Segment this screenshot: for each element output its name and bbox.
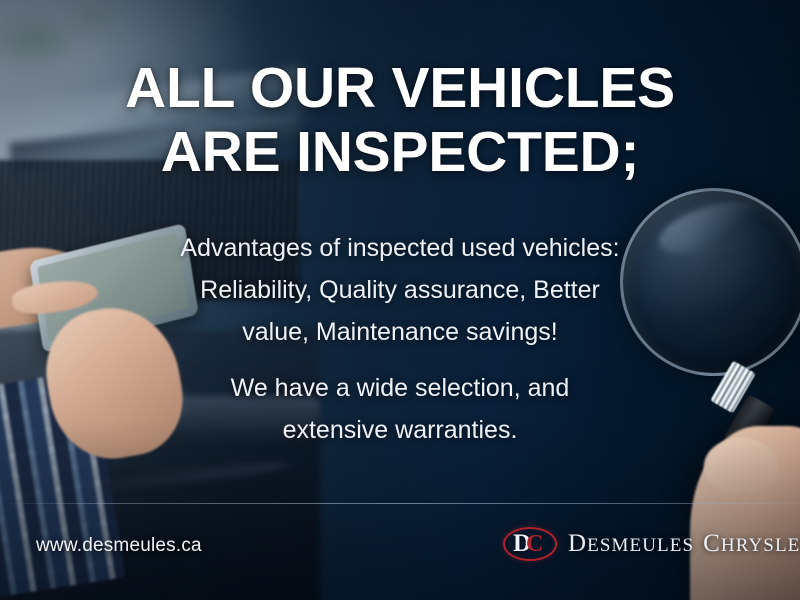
logo-wordmark: DESMEULESCHRYSLER [568,530,800,558]
wordmark-chrysler-initial: C [703,530,721,557]
wordmark-chrysler-rest: HRYSLER [721,535,800,556]
body-p1-line-2: Reliability, Quality assurance, Better [0,269,800,311]
dc-monogram-icon: D C [503,527,557,561]
dealership-logo[interactable]: D C DESMEULESCHRYSLER [503,527,800,561]
body-paragraph-2: We have a wide selection, and extensive … [0,367,800,451]
banner-content: ALL OUR VEHICLES ARE INSPECTED; Advantag… [0,0,800,600]
body-p1-line-1: Advantages of inspected used vehicles: [0,227,800,269]
body-p2-line-1: We have a wide selection, and [0,367,800,409]
wordmark-desmeules-initial: D [568,530,587,557]
promo-banner: ALL OUR VEHICLES ARE INSPECTED; Advantag… [0,0,800,600]
footer-divider [0,503,800,504]
headline-line-2: ARE INSPECTED; [0,120,800,184]
body-p2-line-2: extensive warranties. [0,409,800,451]
headline-line-1: ALL OUR VEHICLES [0,56,800,120]
body-p1-line-3: value, Maintenance savings! [0,311,800,353]
headline: ALL OUR VEHICLES ARE INSPECTED; [0,56,800,185]
body-paragraph-1: Advantages of inspected used vehicles: R… [0,227,800,353]
wordmark-desmeules-rest: ESMEULES [587,535,694,556]
monogram-letter-c: C [526,532,543,556]
website-url[interactable]: www.desmeules.ca [36,535,202,557]
